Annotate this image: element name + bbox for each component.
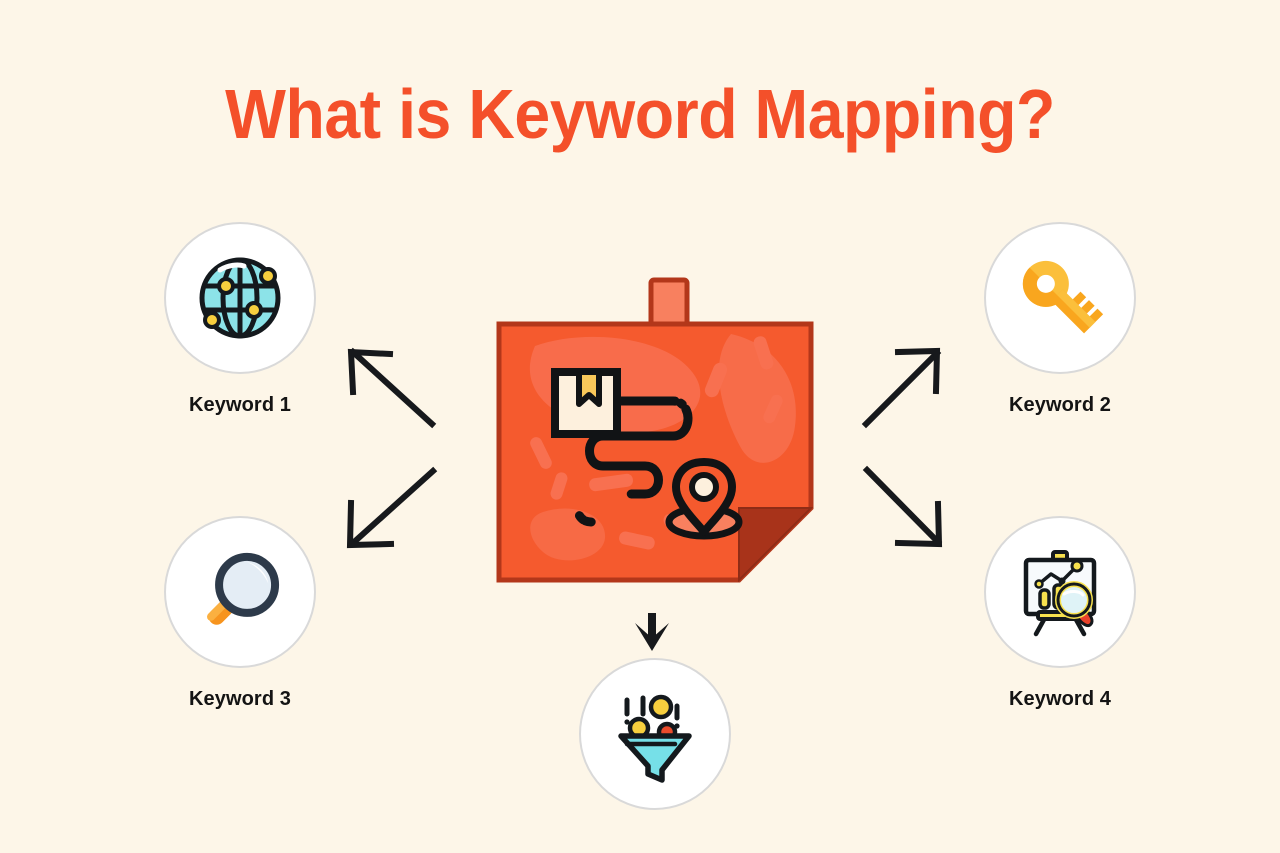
- magnifying-glass-icon: [192, 544, 288, 640]
- funnel-node[interactable]: [575, 658, 735, 810]
- keyword-node-2-label: Keyword 2: [980, 394, 1140, 417]
- arrow-to-keyword-3: [350, 471, 433, 545]
- map-pin-icon: [669, 462, 739, 536]
- keyword-node-2-circle[interactable]: [984, 222, 1136, 374]
- infographic-canvas: What is Keyword Mapping?: [0, 0, 1280, 853]
- arrow-to-keyword-1: [351, 352, 432, 424]
- keyword-node-1[interactable]: Keyword 1: [160, 222, 320, 417]
- globe-network-icon: [192, 250, 288, 346]
- keyword-node-4-label: Keyword 4: [980, 688, 1140, 711]
- keyword-node-3[interactable]: Keyword 3: [160, 516, 320, 711]
- keyword-node-3-circle[interactable]: [164, 516, 316, 668]
- keyword-node-1-label: Keyword 1: [160, 394, 320, 417]
- keyword-node-4-circle[interactable]: [984, 516, 1136, 668]
- filter-funnel-icon: [605, 684, 705, 784]
- keyword-mapping-card[interactable]: [495, 276, 815, 616]
- arrow-to-keyword-4: [867, 470, 939, 544]
- arrow-to-keyword-2: [866, 351, 937, 424]
- funnel-node-circle[interactable]: [579, 658, 731, 810]
- page-title: What is Keyword Mapping?: [51, 78, 1229, 152]
- keyword-node-1-circle[interactable]: [164, 222, 316, 374]
- package-box-icon: [555, 372, 617, 434]
- analytics-presentation-icon: [1012, 544, 1108, 640]
- keyword-node-4[interactable]: Keyword 4: [980, 516, 1140, 711]
- keyword-node-3-label: Keyword 3: [160, 688, 320, 711]
- key-icon: [1012, 250, 1108, 346]
- keyword-node-2[interactable]: Keyword 2: [980, 222, 1140, 417]
- arrow-to-funnel: [635, 613, 669, 651]
